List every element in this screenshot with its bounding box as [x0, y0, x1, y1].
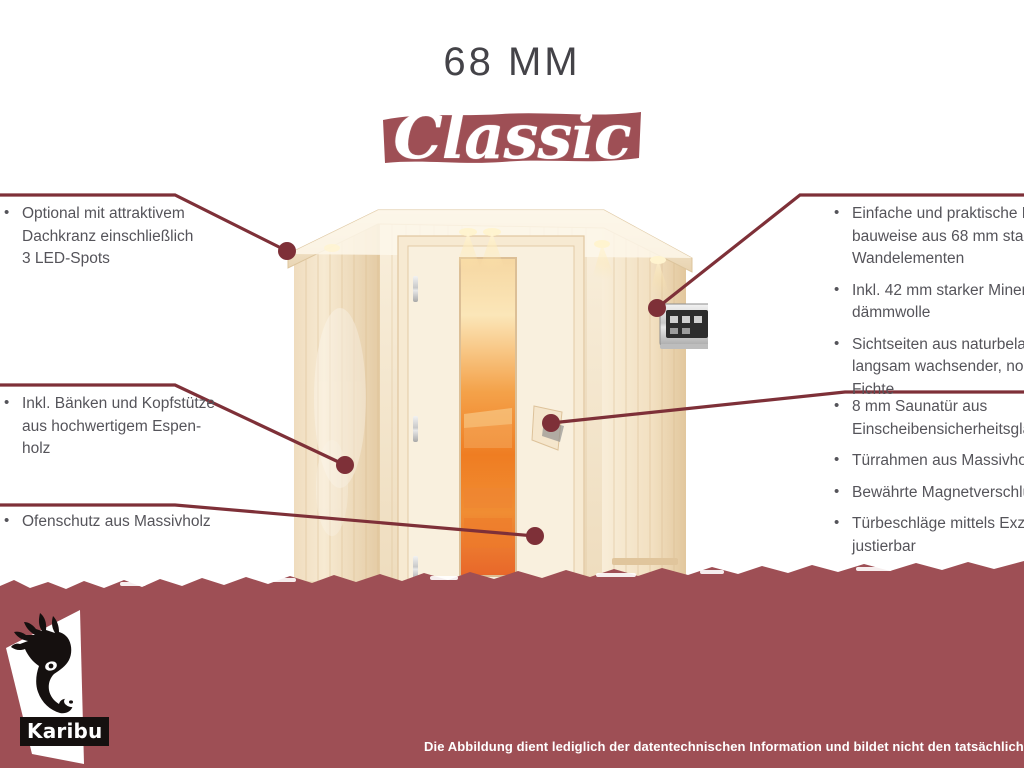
callout-line: dämmwolle: [852, 302, 1024, 325]
infographic-page: 68 MM Classic: [0, 0, 1024, 768]
list-item: Bewährte Magnetverschluss: [830, 482, 1024, 505]
callout-line: Bewährte Magnetverschluss: [852, 484, 1024, 501]
callout-top-left: Optional mit attraktivem Dachkranz einsc…: [0, 203, 260, 280]
sauna-control-panel-icon: [660, 304, 708, 349]
callout-line: aus hochwertigem Espen-: [22, 416, 260, 439]
callout-line: Türrahmen aus Massivholz: [852, 452, 1024, 469]
callout-list-bottom-left: Ofenschutz aus Massivholz: [0, 511, 260, 534]
callout-line: holz: [22, 438, 260, 461]
callout-line: 8 mm Saunatür aus: [852, 398, 987, 415]
callout-line: Einfache und praktische Ele-: [852, 205, 1024, 222]
callout-line: Ofenschutz aus Massivholz: [22, 513, 211, 530]
callout-line: Optional mit attraktivem: [22, 205, 185, 222]
callout-line: Inkl. Bänken und Kopfstütze: [22, 395, 215, 412]
callout-bottom-left: Ofenschutz aus Massivholz: [0, 511, 260, 543]
list-item: Türbeschläge mittels Exzenter justierbar: [830, 513, 1024, 558]
callout-line: langsam wachsender, nordischer: [852, 356, 1024, 379]
callout-line: Einscheibensicherheitsglas: [852, 419, 1024, 442]
callout-line: Wandelementen: [852, 248, 1024, 271]
callout-list-top-right: Einfache und praktische Ele- bauweise au…: [830, 203, 1024, 401]
page-title: 68 MM: [0, 40, 1024, 85]
callout-line: Dachkranz einschließlich: [22, 226, 260, 249]
callout-mid-left: Inkl. Bänken und Kopfstütze aus hochwert…: [0, 393, 260, 470]
list-item: Türrahmen aus Massivholz: [830, 450, 1024, 473]
callout-list-mid-left: Inkl. Bänken und Kopfstütze aus hochwert…: [0, 393, 260, 461]
list-item: Sichtseiten aus naturbelassener, langsam…: [830, 334, 1024, 402]
list-item: Inkl. Bänken und Kopfstütze aus hochwert…: [0, 393, 260, 461]
door-hinge-mid: [413, 416, 418, 442]
callout-top-right: Einfache und praktische Ele- bauweise au…: [830, 203, 1024, 410]
callout-line: bauweise aus 68 mm starken: [852, 226, 1024, 249]
product-image-sauna: [272, 188, 708, 616]
list-item: 8 mm Saunatür aus Einscheibensicherheits…: [830, 396, 1024, 441]
callout-line: justierbar: [852, 536, 1024, 559]
callout-line: Sichtseiten aus naturbelassener,: [852, 336, 1024, 353]
list-item: Inkl. 42 mm starker Mineral- dämmwolle: [830, 280, 1024, 325]
callout-line: Inkl. 42 mm starker Mineral-: [852, 282, 1024, 299]
callout-list-bottom-right: 8 mm Saunatür aus Einscheibensicherheits…: [830, 396, 1024, 558]
callout-line: Türbeschläge mittels Exzenter: [852, 515, 1024, 532]
callout-list-top-left: Optional mit attraktivem Dachkranz einsc…: [0, 203, 260, 271]
door-hinge-top: [413, 276, 418, 302]
list-item: Ofenschutz aus Massivholz: [0, 511, 260, 534]
bottom-banner: [0, 558, 1024, 768]
karibu-wordmark: Karibu: [20, 717, 109, 746]
callout-line: 3 LED-Spots: [22, 248, 260, 271]
list-item: Einfache und praktische Ele- bauweise au…: [830, 203, 1024, 271]
model-name-text: Classic: [212, 102, 812, 172]
list-item: Optional mit attraktivem Dachkranz einsc…: [0, 203, 260, 271]
model-name-badge: Classic: [0, 100, 1024, 178]
callout-bottom-right: 8 mm Saunatür aus Einscheibensicherheits…: [830, 396, 1024, 567]
disclaimer-text: Die Abbildung dient lediglich der datent…: [0, 739, 1024, 754]
